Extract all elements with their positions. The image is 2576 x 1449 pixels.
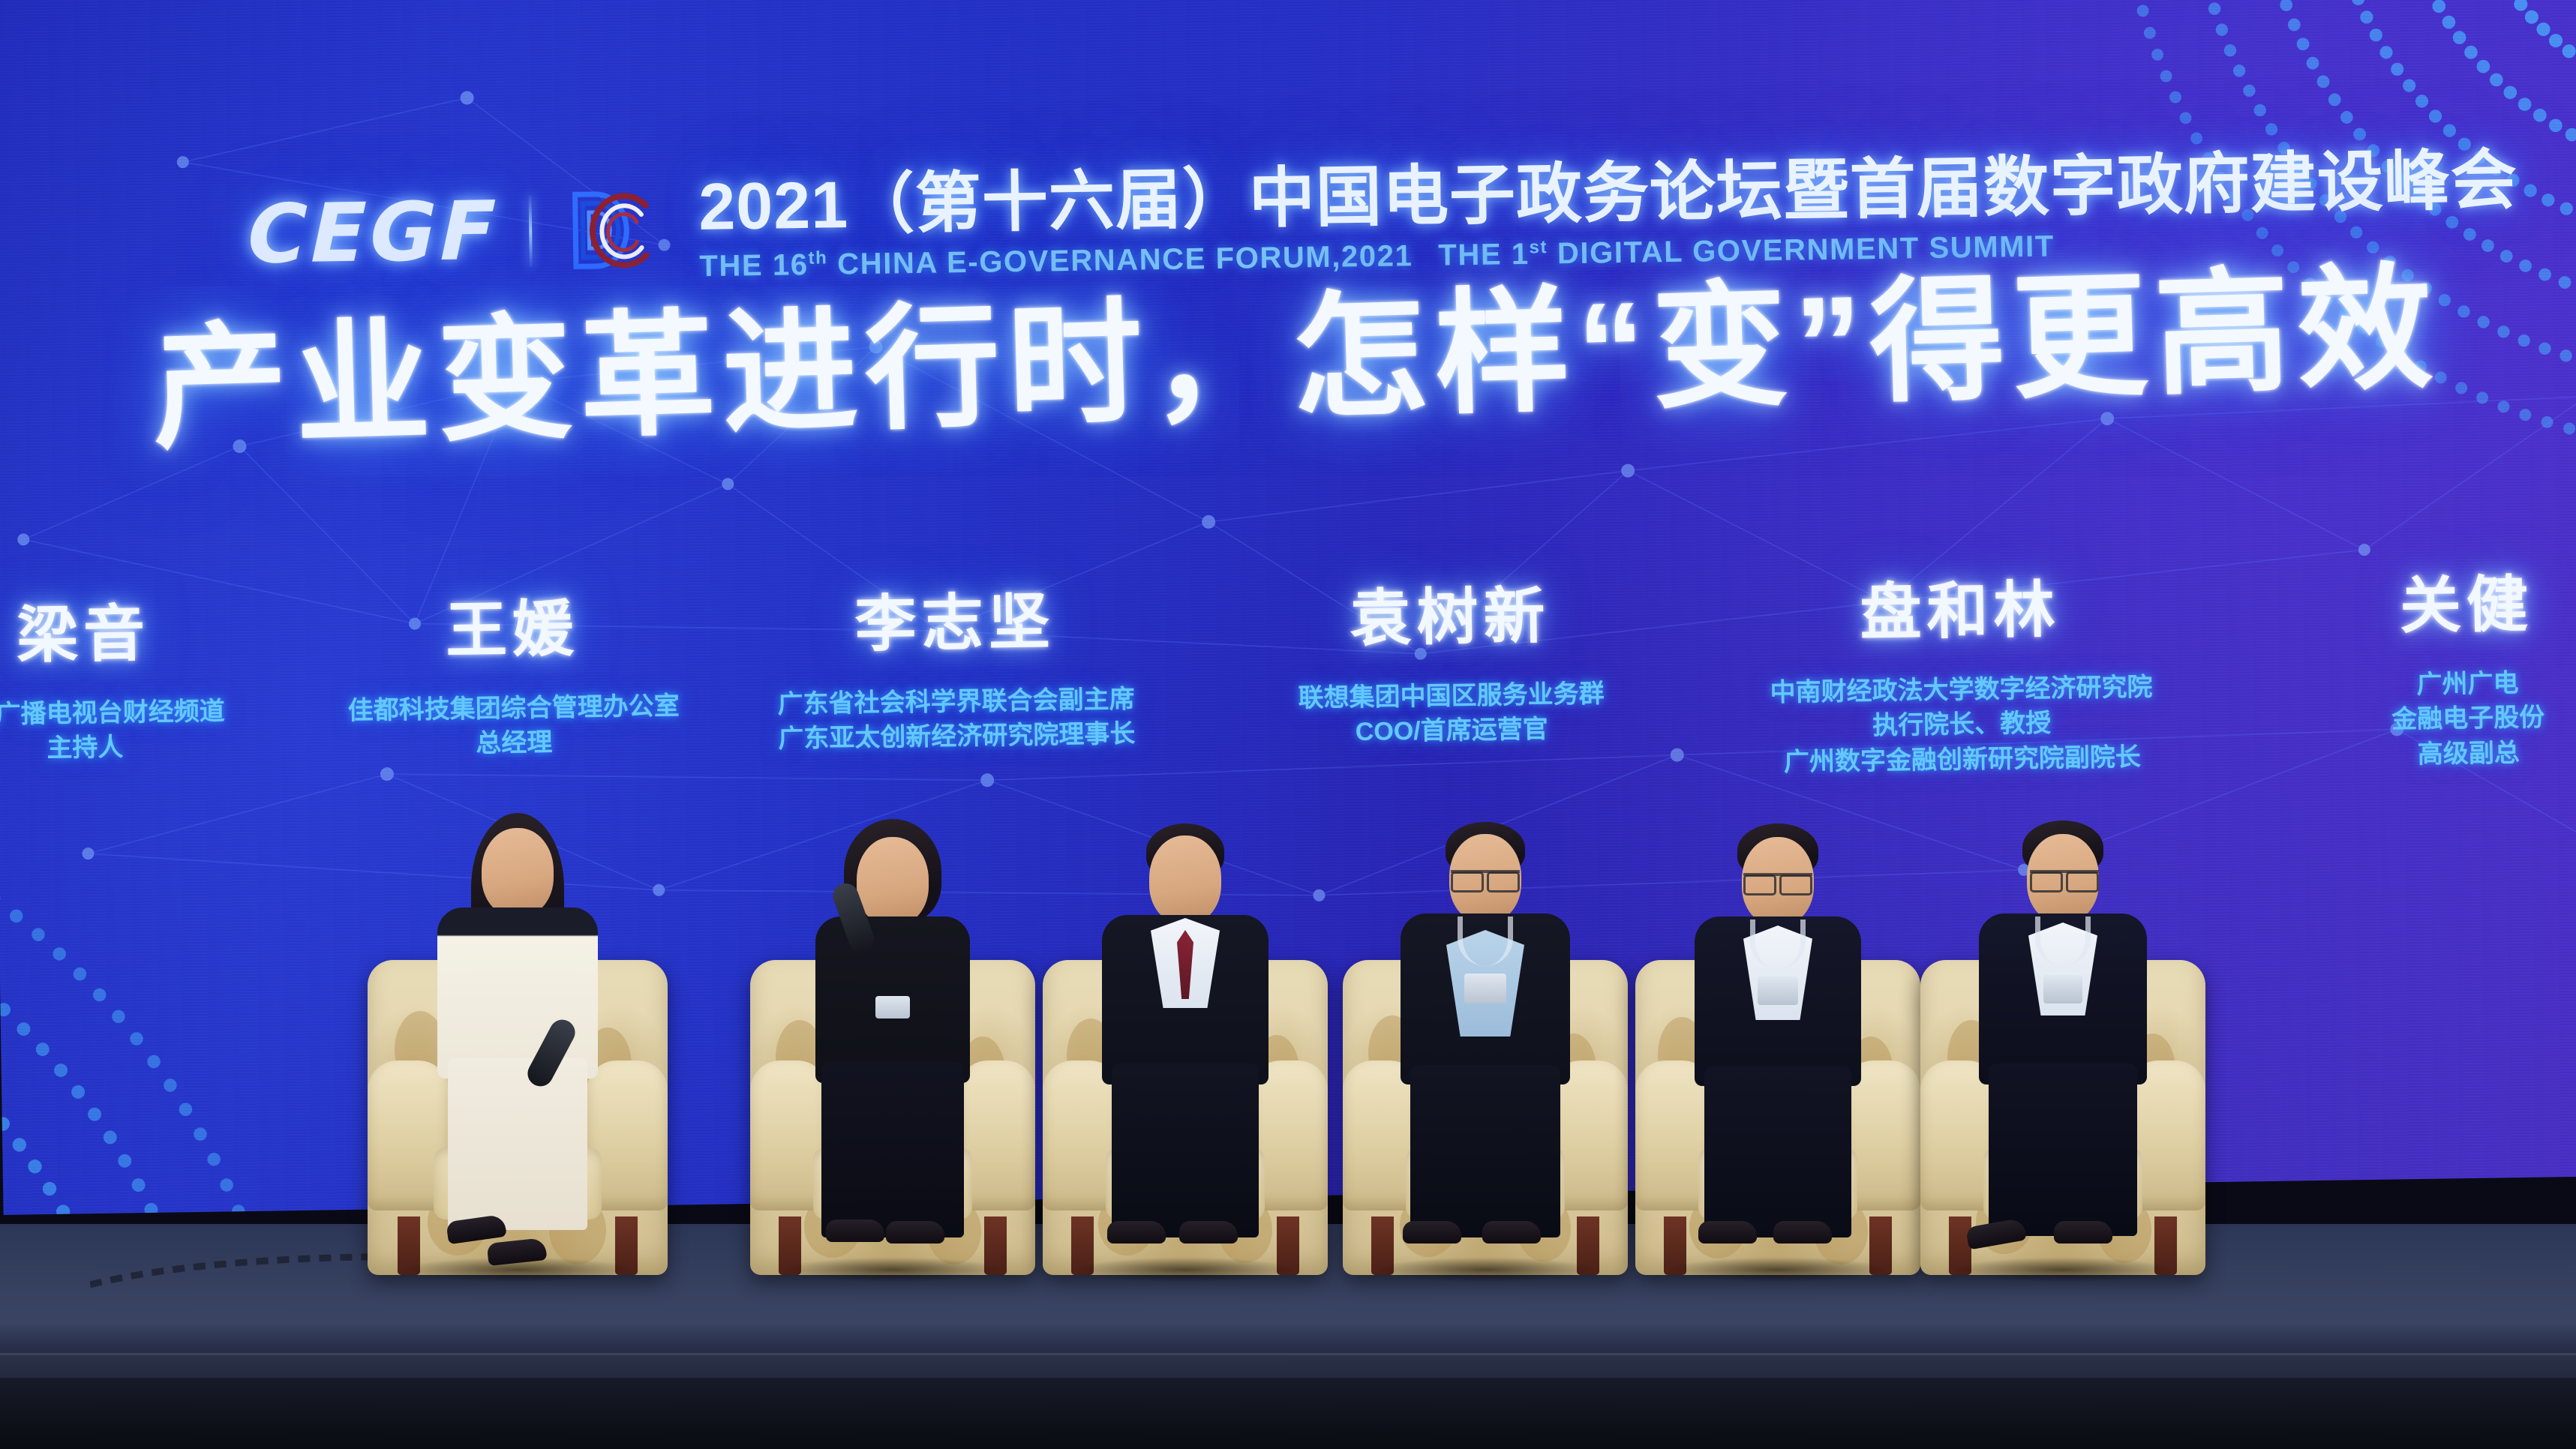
cegf-wordmark: CEGF [247,190,500,275]
legs [1704,1066,1851,1237]
forum-ordinal-suffix: th [808,247,827,268]
eyeglasses-icon [1451,870,1520,886]
name-badge [1464,973,1506,1003]
panelist-name: 盘和林 [1719,575,2200,649]
panelist-role-line: 总经理 [319,723,710,764]
panelist-role: 广东省社会科学界联合会副主席 广东亚太创新经济研究院理事长 [746,681,1166,757]
chair-shadow [1332,1252,1639,1287]
panelist-name: 梁音 [0,600,242,671]
logo-divider [529,195,533,267]
panelist-figure [1950,816,2175,1230]
panelist-role-line: 主持人 [0,728,243,768]
panelist-figure [1073,817,1298,1230]
panelist-name: 王媛 [317,595,708,667]
panelist-figure [405,810,630,1230]
name-badge [1758,976,1798,1005]
panelist-role-line: 广东省社会科学界联合会副主席 [746,681,1166,722]
panelist-role-line: 联想集团中国区服务业务群 [1241,676,1662,717]
shoe [1482,1221,1541,1243]
legs [1989,1063,2137,1236]
shoe [886,1221,944,1243]
stage-front-face [0,1378,2576,1449]
chair-shadow [1909,1252,2217,1287]
chair-shadow [1031,1252,1339,1287]
conference-stage-photo: CEGF [0,0,2576,1449]
shoe [2054,1221,2112,1243]
summit-title-en-rest: DIGITAL GOVERNMENT SUMMIT [1548,229,2055,270]
seated-panel-row [0,765,2576,1275]
panelist-role-line: 佳都科技集团综合管理办公室 [318,688,709,729]
legs [1112,1063,1259,1237]
panelist-role-line: 广州广电 [2291,664,2576,704]
torso [437,907,598,1078]
chair-shadow [739,1252,1046,1287]
panelist-card-1: 王媛 佳都科技集团综合管理办公室 总经理 [317,595,710,764]
eyeglasses-icon [1743,873,1812,889]
name-badge [875,996,910,1018]
shoe [1773,1221,1832,1243]
shoe [1179,1221,1238,1243]
forum-title-en-prefix: THE 16 [699,248,809,283]
panelist-role: 佳都科技集团综合管理办公室 总经理 [318,688,709,764]
panelist-figure [784,817,1001,1230]
eyeglasses-icon [2030,870,2099,886]
panelist-card-2: 李志坚 广东省社会科学界联合会副主席 广东亚太创新经济研究院理事长 [744,588,1166,758]
panelist-role-line: 广东亚太创新经济研究院理事长 [746,716,1167,757]
panelist-name: 关健 [2289,571,2576,643]
panelist-card-4: 盘和林 中南财经政法大学数字经济研究院 执行院长、教授 广州数字金融创新研究院副… [1719,575,2202,781]
legs [448,1057,587,1230]
shoe [1698,1221,1757,1243]
head [857,837,929,925]
panelist-name: 李志坚 [744,588,1165,661]
head [482,828,554,916]
legs [821,1062,964,1237]
chair-shadow [1624,1252,1932,1287]
shoe [826,1219,884,1242]
panelist-card-5: 关健 广州广电 金融电子股份 高级副总 [2289,571,2576,775]
panelist-role-line: 金融电子股份 [2292,699,2576,739]
panelist-role: 联想集团中国区服务业务群 COO/首席运营官 [1241,676,1662,752]
head [1149,835,1221,924]
panelist-role: 广东广播电视台财经频道 主持人 [0,694,243,769]
panelist-role-line: 广东广播电视台财经频道 [0,694,242,733]
shoe [1403,1221,1461,1243]
summit-title-en-prefix: THE 1 [1438,238,1530,272]
name-badge [2043,975,2082,1003]
summit-ordinal-suffix: st [1529,237,1548,257]
panelist-name: 袁树新 [1239,582,1660,655]
panelist-figure [1665,819,1890,1230]
panelist-card-0: 梁音 广东广播电视台财经频道 主持人 [0,600,243,769]
shoe [1107,1221,1166,1243]
panelist-card-3: 袁树新 联想集团中国区服务业务群 COO/首席运营官 [1239,582,1662,752]
panelist-figure [1373,817,1598,1230]
panelist-role: 广州广电 金融电子股份 高级副总 [2291,664,2576,775]
legs [1410,1065,1560,1237]
panelist-role-line: COO/首席运营官 [1241,710,1662,751]
dg-monogram-icon [562,179,659,280]
